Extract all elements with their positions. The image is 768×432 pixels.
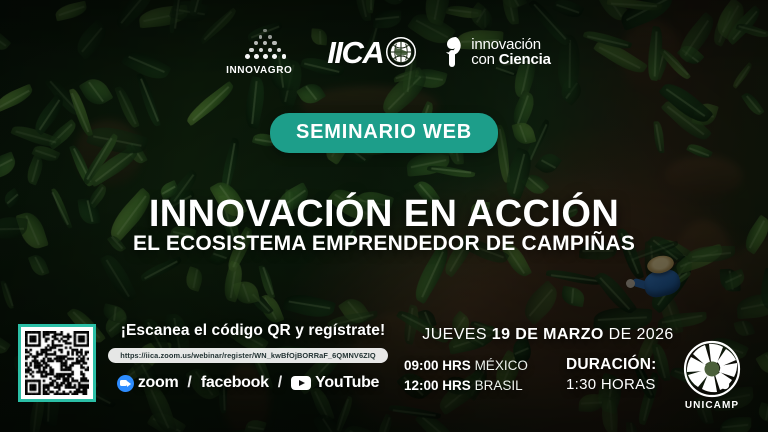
innovacion-con-ciencia-logo: innovación con Ciencia	[442, 35, 551, 69]
seminario-web-badge: SEMINARIO WEB	[270, 113, 498, 153]
webinar-poster: INNOVAGRO IICA inno	[0, 0, 768, 432]
channel-zoom-label: zoom	[138, 374, 179, 392]
page-subtitle: EL ECOSISTEMA EMPRENDEDOR DE CAMPIÑAS	[0, 232, 768, 256]
event-duration: DURACIÓN: 1:30 HORAS	[566, 356, 686, 393]
duration-value: 1:30 HORAS	[566, 376, 686, 393]
logo-row: INNOVAGRO IICA inno	[0, 28, 768, 76]
iica-label: IICA	[327, 37, 383, 68]
channel-youtube[interactable]: YouTube	[291, 374, 379, 392]
channel-zoom[interactable]: zoom	[117, 374, 179, 392]
zoom-camera-icon	[117, 375, 134, 392]
date-strong: 19 DE MARZO	[492, 326, 604, 343]
channel-youtube-label: YouTube	[315, 374, 379, 392]
icc-ciencia: Ciencia	[499, 51, 551, 68]
date-prefix: JUEVES	[422, 326, 492, 343]
innovagro-dot-pattern-icon	[233, 28, 293, 60]
innovagro-logo: INNOVAGRO	[217, 28, 301, 76]
page-title: INNOVACIÓN EN ACCIÓN	[0, 193, 768, 236]
zone-brasil: BRASIL	[475, 378, 523, 393]
time-row-mexico: 09:00 HRS MÉXICO	[404, 356, 554, 376]
poster-content: INNOVAGRO IICA inno	[0, 0, 768, 432]
qr-code-image	[25, 331, 89, 395]
time-mexico: 09:00 HRS	[404, 358, 471, 373]
channel-separator-1: /	[187, 374, 191, 392]
icc-line-2: con Ciencia	[471, 52, 551, 67]
globe-icon	[386, 37, 416, 67]
unicamp-logo: UNICAMP	[676, 340, 748, 418]
time-row-brasil: 12:00 HRS BRASIL	[404, 376, 554, 396]
bottom-info-bar: ¡Escanea el código QR y regístrate! http…	[0, 312, 768, 432]
innovagro-label: INNOVAGRO	[217, 65, 301, 76]
event-date: JUEVES 19 DE MARZO DE 2026	[412, 326, 684, 344]
icc-con: con	[471, 51, 499, 68]
qr-code[interactable]	[18, 324, 96, 402]
iica-logo: IICA	[327, 37, 416, 68]
duration-label: DURACIÓN:	[566, 356, 686, 374]
channel-separator-2: /	[278, 374, 282, 392]
spiral-icon	[676, 340, 748, 398]
date-suffix: DE 2026	[604, 326, 674, 343]
time-brasil: 12:00 HRS	[404, 378, 471, 393]
registration-url[interactable]: https://iica.zoom.us/webinar/register/WN…	[108, 348, 388, 363]
youtube-play-icon	[291, 376, 311, 390]
channel-facebook-label: facebook	[201, 374, 269, 392]
event-times: 09:00 HRS MÉXICO 12:00 HRS BRASIL	[404, 356, 554, 397]
channel-facebook[interactable]: facebook	[201, 374, 269, 392]
social-channels: zoom / facebook / YouTube	[108, 374, 388, 392]
zone-mexico: MÉXICO	[475, 358, 528, 373]
icc-line-1: innovación	[471, 37, 551, 52]
unicamp-label: UNICAMP	[676, 400, 748, 411]
scan-headline: ¡Escanea el código QR y regístrate!	[108, 322, 398, 340]
leaf-i-icon	[442, 35, 466, 69]
icc-wordmark: innovación con Ciencia	[471, 37, 551, 68]
